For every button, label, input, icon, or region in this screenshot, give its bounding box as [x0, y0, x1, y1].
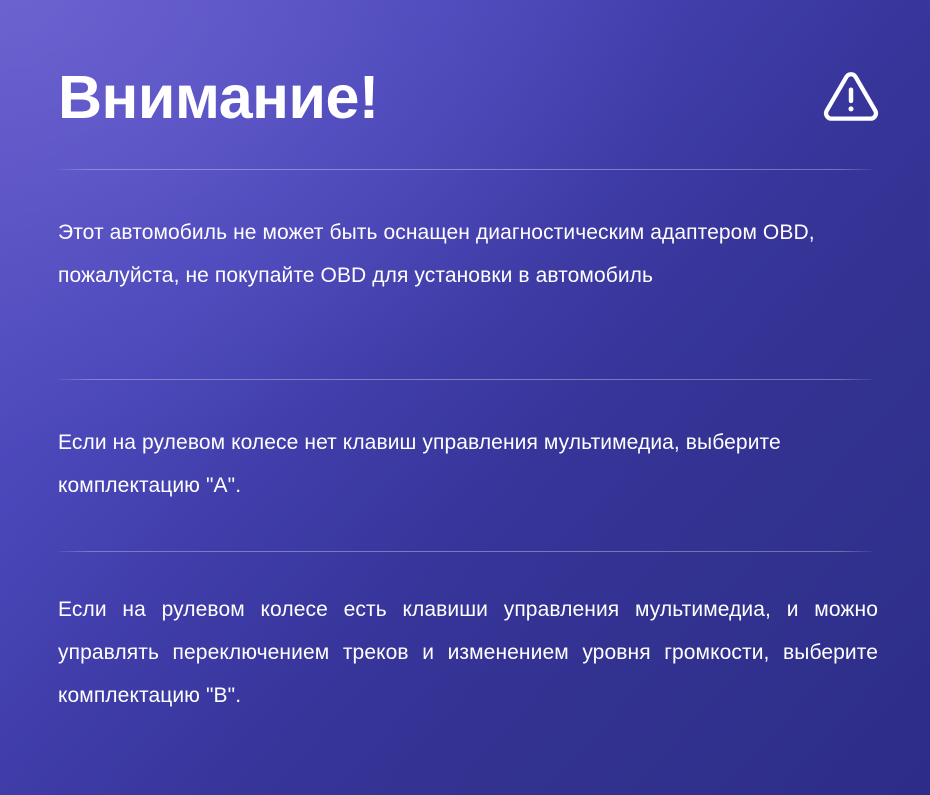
warning-card: Внимание! Этот автомобиль не может быть … [0, 0, 930, 795]
divider-1 [58, 169, 872, 170]
page-title: Внимание! [58, 65, 379, 129]
warning-triangle-icon [820, 66, 882, 128]
card-header: Внимание! [58, 58, 882, 136]
notice-text-obd: Этот автомобиль не может быть оснащен ди… [58, 211, 878, 297]
notice-text-trim-b: Если на рулевом колесе есть клавиши упра… [58, 588, 878, 717]
divider-2 [58, 379, 872, 380]
notice-text-trim-a: Если на рулевом колесе нет клавиш управл… [58, 421, 878, 507]
divider-3 [58, 551, 872, 552]
